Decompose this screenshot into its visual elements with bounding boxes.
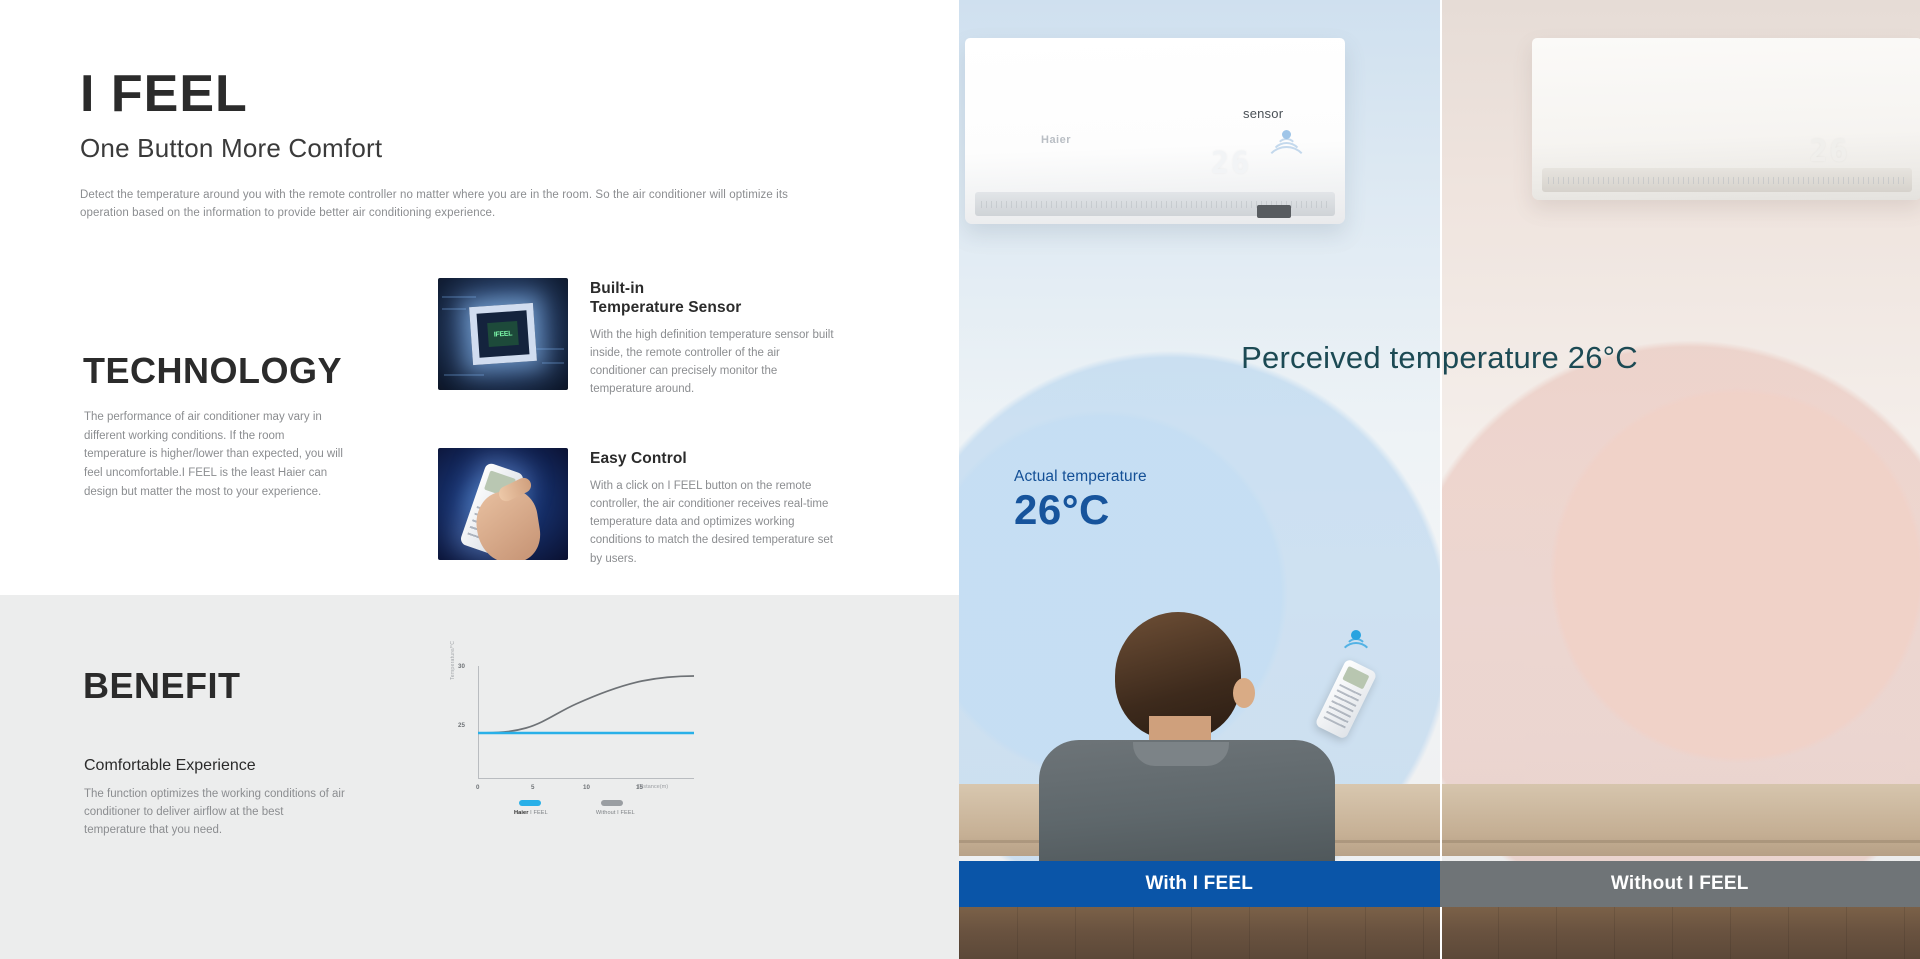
chart-ytick-25: 25	[458, 722, 465, 729]
chart-line-without-ifeel	[478, 676, 694, 733]
technology-description: The performance of air conditioner may v…	[84, 408, 349, 501]
legend-item-without: Without I FEEL	[596, 800, 635, 816]
chart-x-axis	[478, 778, 694, 779]
legend-label-haier: Haier I FEEL	[514, 810, 548, 816]
actual-temperature-block-left: Actual temperature 26°C	[1014, 468, 1147, 533]
feature-text-block: Built-in Temperature Sensor With the hig…	[590, 278, 838, 398]
chart-legend: Haier I FEEL Without I FEEL	[514, 800, 635, 816]
banner-with-ifeel: With I FEEL	[959, 861, 1440, 907]
remote-signal-arc-2	[1339, 642, 1373, 676]
legend-label-without: Without I FEEL	[596, 810, 635, 816]
sensor-label: sensor	[1243, 106, 1283, 121]
ac-louver-right	[1548, 177, 1906, 184]
panel-divider	[1440, 0, 1442, 959]
circuit-chip-icon: IFEEL	[438, 278, 568, 390]
chip-label: IFEEL	[487, 321, 519, 347]
feature-body: With the high definition temperature sen…	[590, 326, 838, 399]
floor-left	[959, 907, 1440, 959]
comparison-banners: With I FEEL Without I FEEL	[959, 861, 1920, 907]
legend-brand: Haier	[514, 810, 529, 816]
banner-without-ifeel: Without I FEEL	[1440, 861, 1920, 907]
air-conditioner-unit-left: Haier sensor 26	[965, 38, 1345, 224]
person-with-ifeel	[1037, 612, 1337, 862]
sofa-seam-right	[1440, 840, 1920, 843]
feature-title-line2: Temperature Sensor	[590, 299, 838, 318]
person-ear-left	[1233, 678, 1255, 708]
page-subtitle: One Button More Comfort	[80, 133, 382, 164]
legend-swatch-without	[601, 800, 623, 806]
feature-title-line1: Easy Control	[590, 450, 838, 469]
ac-display-temperature-right: 26	[1810, 134, 1850, 169]
legend-rest: I FEEL	[529, 810, 548, 816]
air-conditioner-unit-right: 26	[1532, 38, 1920, 200]
actual-temperature-label-left: Actual temperature	[1014, 468, 1147, 486]
benefit-heading: BENEFIT	[83, 665, 241, 707]
feature-card-easy-control: Easy Control With a click on I FEEL butt…	[438, 448, 838, 568]
i-feel-product-page: I FEEL One Button More Comfort Detect th…	[0, 0, 1920, 959]
hand-remote-icon	[438, 448, 568, 560]
benefit-description: The function optimizes the working condi…	[84, 785, 346, 839]
chart-y-axis-label: Temperature/°C	[450, 641, 456, 680]
left-content-panel: I FEEL One Button More Comfort Detect th…	[0, 0, 959, 959]
chart-x-axis-label: Distance(m)	[638, 784, 668, 790]
feature-card-temperature-sensor: IFEEL Built-in Temperature Sensor With t…	[438, 278, 838, 398]
chart-xtick-5: 5	[531, 784, 534, 791]
scene-half-with-ifeel: Haier sensor 26 Actual temperature	[959, 0, 1440, 959]
hero-description: Detect the temperature around you with t…	[80, 187, 840, 223]
sofa-backrest-right	[1440, 784, 1920, 856]
benefit-subheading: Comfortable Experience	[84, 757, 256, 775]
feature-text-block: Easy Control With a click on I FEEL butt…	[590, 448, 838, 568]
actual-temperature-value-left: 26°C	[1014, 486, 1147, 533]
technology-heading: TECHNOLOGY	[83, 350, 342, 392]
ac-control-badge-left	[1257, 205, 1291, 218]
legend-item-haier: Haier I FEEL	[514, 800, 548, 816]
feature-title-line1: Built-in	[590, 280, 838, 299]
perceived-temperature-headline: Perceived temperature 26°C	[959, 340, 1920, 376]
comparison-photo-panel: Haier sensor 26 Actual temperature	[959, 0, 1920, 959]
chart-plot-area	[478, 666, 694, 778]
person-collar-left	[1133, 742, 1229, 766]
chart-xtick-0: 0	[476, 784, 479, 791]
chart-ytick-30: 30	[458, 663, 465, 670]
feature-body: With a click on I FEEL button on the rem…	[590, 477, 838, 568]
wifi-signal-icon	[1265, 130, 1307, 160]
floor-right	[1440, 907, 1920, 959]
scene-half-without-ifeel: 26 Actual temperature 29°C	[1440, 0, 1920, 959]
signal-arc-3	[1264, 146, 1309, 191]
page-title: I FEEL	[80, 68, 248, 120]
temperature-distance-chart: Temperature/°C 30 25 0 5 10 15 Distance(…	[452, 662, 712, 837]
ac-display-temperature-left: 26	[1211, 146, 1251, 181]
chart-xtick-10: 10	[583, 784, 590, 791]
haier-brand-logo: Haier	[1041, 134, 1071, 146]
legend-swatch-haier	[519, 800, 541, 806]
